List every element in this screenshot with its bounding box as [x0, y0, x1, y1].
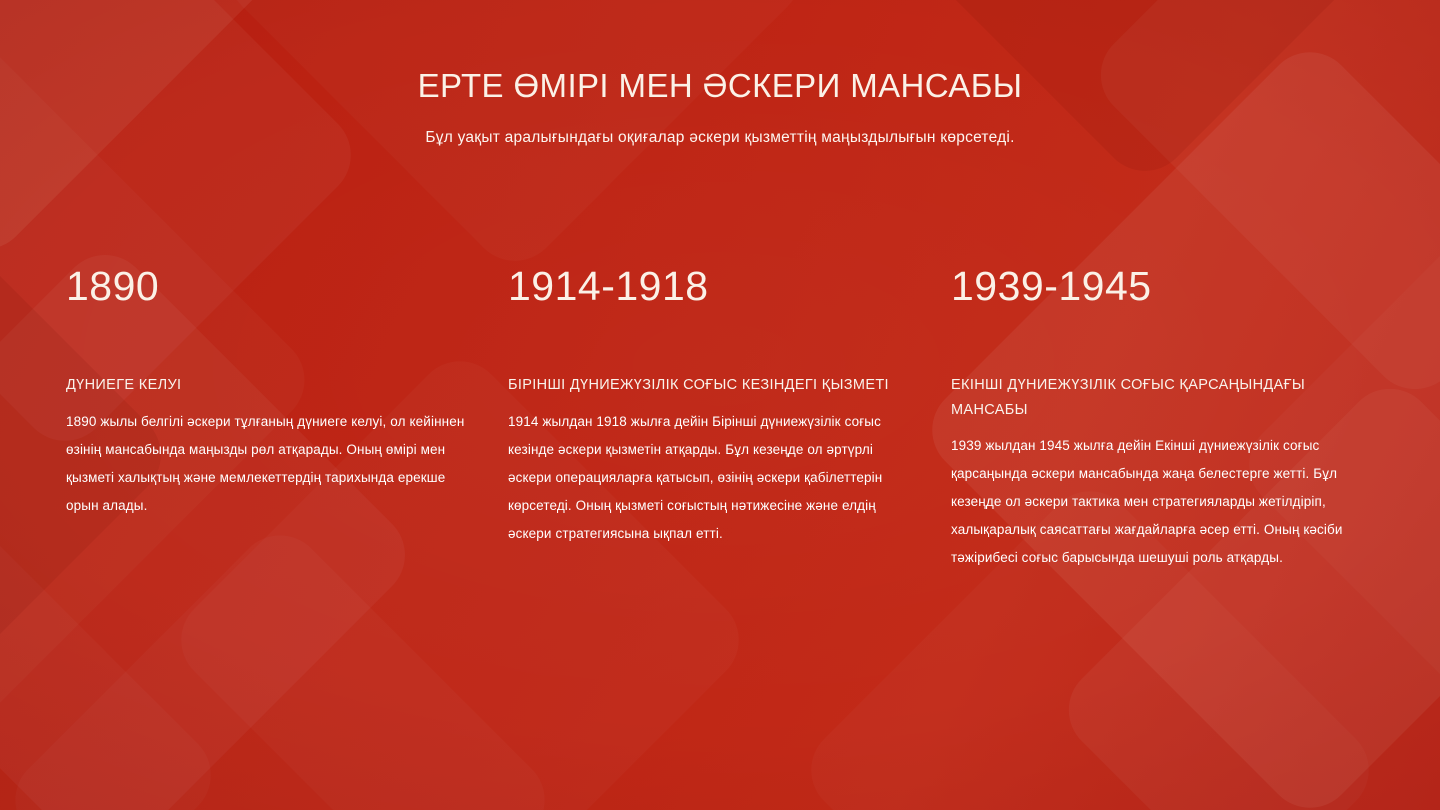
timeline-year: 1939-1945	[951, 262, 1376, 310]
timeline-year: 1890	[66, 262, 466, 310]
timeline-column: 1890 ДҮНИЕГЕ КЕЛУІ 1890 жылы белгілі әск…	[66, 262, 466, 520]
timeline-heading: ЕКІНШІ ДҮНИЕЖҮЗІЛІК СОҒЫС ҚАРСАҢЫНДАҒЫ М…	[951, 373, 1376, 423]
timeline-column: 1939-1945 ЕКІНШІ ДҮНИЕЖҮЗІЛІК СОҒЫС ҚАРС…	[951, 262, 1376, 572]
presentation-slide: ЕРТЕ ӨМІРІ МЕН ӘСКЕРИ МАНСАБЫ Бұл уақыт …	[0, 0, 1440, 810]
timeline-heading: ДҮНИЕГЕ КЕЛУІ	[66, 373, 466, 398]
timeline-column: 1914-1918 БІРІНШІ ДҮНИЕЖҮЗІЛІК СОҒЫС КЕЗ…	[508, 262, 908, 548]
timeline-year: 1914-1918	[508, 262, 908, 310]
slide-content: ЕРТЕ ӨМІРІ МЕН ӘСКЕРИ МАНСАБЫ Бұл уақыт …	[0, 0, 1440, 810]
timeline-body: 1890 жылы белгілі әскери тұлғаның дүниег…	[66, 408, 466, 520]
timeline-heading: БІРІНШІ ДҮНИЕЖҮЗІЛІК СОҒЫС КЕЗІНДЕГІ ҚЫЗ…	[508, 373, 908, 398]
timeline-body: 1939 жылдан 1945 жылға дейін Екінші дүни…	[951, 432, 1376, 572]
timeline-body: 1914 жылдан 1918 жылға дейін Бірінші дүн…	[508, 408, 908, 548]
timeline-columns: 1890 ДҮНИЕГЕ КЕЛУІ 1890 жылы белгілі әск…	[0, 0, 1440, 810]
